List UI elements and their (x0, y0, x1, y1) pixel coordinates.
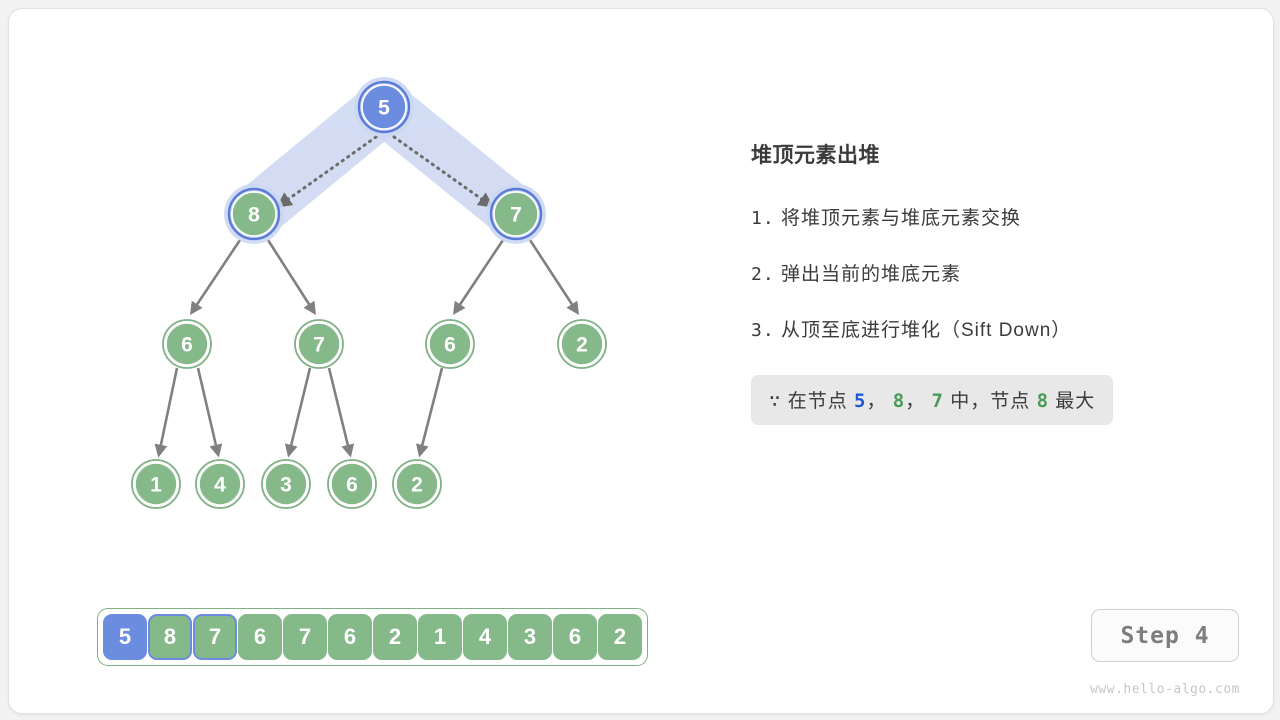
edge-6-4 (198, 368, 218, 454)
step-number: 1. (751, 208, 775, 229)
array-cell[interactable]: 2 (373, 614, 417, 660)
note-comma-1: ， (905, 391, 925, 412)
heap-array: 5 8 7 6 7 6 2 1 4 3 6 2 (97, 608, 648, 666)
array-cell[interactable]: 2 (598, 614, 642, 660)
tree-edges (159, 240, 577, 454)
tree-node-7-right[interactable]: 7 (486, 184, 546, 244)
note-suffix: 最大 (1055, 391, 1095, 412)
node-label: 7 (510, 204, 522, 227)
step-number: 3. (751, 320, 775, 341)
note-callout: ∵ 在节点 5， 8， 7 中，节点 8 最大 (751, 375, 1113, 425)
edge-7-3 (289, 368, 310, 454)
note-value-0: 5 (854, 390, 866, 412)
edge-8-6 (192, 240, 240, 312)
edge-8-7 (268, 240, 314, 312)
array-cell[interactable]: 8 (148, 614, 192, 660)
node-label: 2 (411, 474, 423, 497)
tree-node-5[interactable]: 5 (354, 77, 414, 137)
note-comma-0: ， (866, 391, 886, 412)
tree-node-l3-2[interactable]: 6 (426, 320, 474, 368)
array-cell[interactable]: 6 (238, 614, 282, 660)
step-text: 从顶至底进行堆化（Sift Down） (781, 320, 1071, 341)
step-number: 2. (751, 264, 775, 285)
array-cell[interactable]: 6 (328, 614, 372, 660)
edge-6-2 (420, 368, 442, 454)
diagram-card: 5 8 7 6 (8, 8, 1274, 714)
array-cell[interactable]: 7 (193, 614, 237, 660)
edge-7-6 (455, 240, 503, 312)
because-icon: ∵ (769, 390, 781, 412)
step-badge: Step 4 (1091, 609, 1239, 662)
binary-heap-tree: 5 8 7 6 (9, 9, 709, 569)
tree-node-l3-1[interactable]: 7 (295, 320, 343, 368)
step-item-1: 1. 将堆顶元素与堆底元素交换 (751, 203, 1221, 230)
node-label: 6 (346, 474, 358, 497)
array-cell[interactable]: 7 (283, 614, 327, 660)
tree-node-l4-4[interactable]: 2 (393, 460, 441, 508)
array-cell[interactable]: 3 (508, 614, 552, 660)
node-label: 1 (150, 474, 162, 497)
array-cell[interactable]: 1 (418, 614, 462, 660)
tree-node-l3-3[interactable]: 2 (558, 320, 606, 368)
note-value-2: 7 (932, 390, 944, 412)
tree-node-l4-3[interactable]: 6 (328, 460, 376, 508)
step-item-2: 2. 弹出当前的堆底元素 (751, 259, 1221, 286)
tree-node-l4-0[interactable]: 1 (132, 460, 180, 508)
edge-7-2 (530, 240, 577, 312)
tree-node-8[interactable]: 8 (224, 184, 284, 244)
node-label: 2 (576, 334, 588, 357)
node-label: 8 (248, 204, 260, 227)
step-text: 将堆顶元素与堆底元素交换 (781, 208, 1021, 229)
edge-7-6b (329, 368, 350, 454)
tree-svg: 5 8 7 6 (9, 9, 709, 569)
note-value-1: 8 (893, 390, 905, 412)
explanation-panel: 堆顶元素出堆 1. 将堆顶元素与堆底元素交换 2. 弹出当前的堆底元素 3. 从… (751, 139, 1221, 425)
tree-node-l4-2[interactable]: 3 (262, 460, 310, 508)
page-title: 堆顶元素出堆 (751, 139, 1221, 169)
node-label: 5 (378, 97, 390, 120)
step-item-3: 3. 从顶至底进行堆化（Sift Down） (751, 315, 1221, 342)
node-label: 4 (214, 474, 226, 497)
array-cell[interactable]: 4 (463, 614, 507, 660)
step-text: 弹出当前的堆底元素 (781, 264, 961, 285)
note-target: 8 (1037, 390, 1049, 412)
tree-node-l3-0[interactable]: 6 (163, 320, 211, 368)
note-prefix: 在节点 (788, 391, 848, 412)
watermark: www.hello-algo.com (1072, 682, 1240, 697)
note-middle: 中，节点 (950, 391, 1030, 412)
array-cell[interactable]: 5 (103, 614, 147, 660)
tree-node-l4-1[interactable]: 4 (196, 460, 244, 508)
node-label: 7 (313, 334, 325, 357)
array-cell[interactable]: 6 (553, 614, 597, 660)
node-label: 6 (444, 334, 456, 357)
node-label: 3 (280, 474, 292, 497)
edge-6-1 (159, 368, 177, 454)
node-label: 6 (181, 334, 193, 357)
